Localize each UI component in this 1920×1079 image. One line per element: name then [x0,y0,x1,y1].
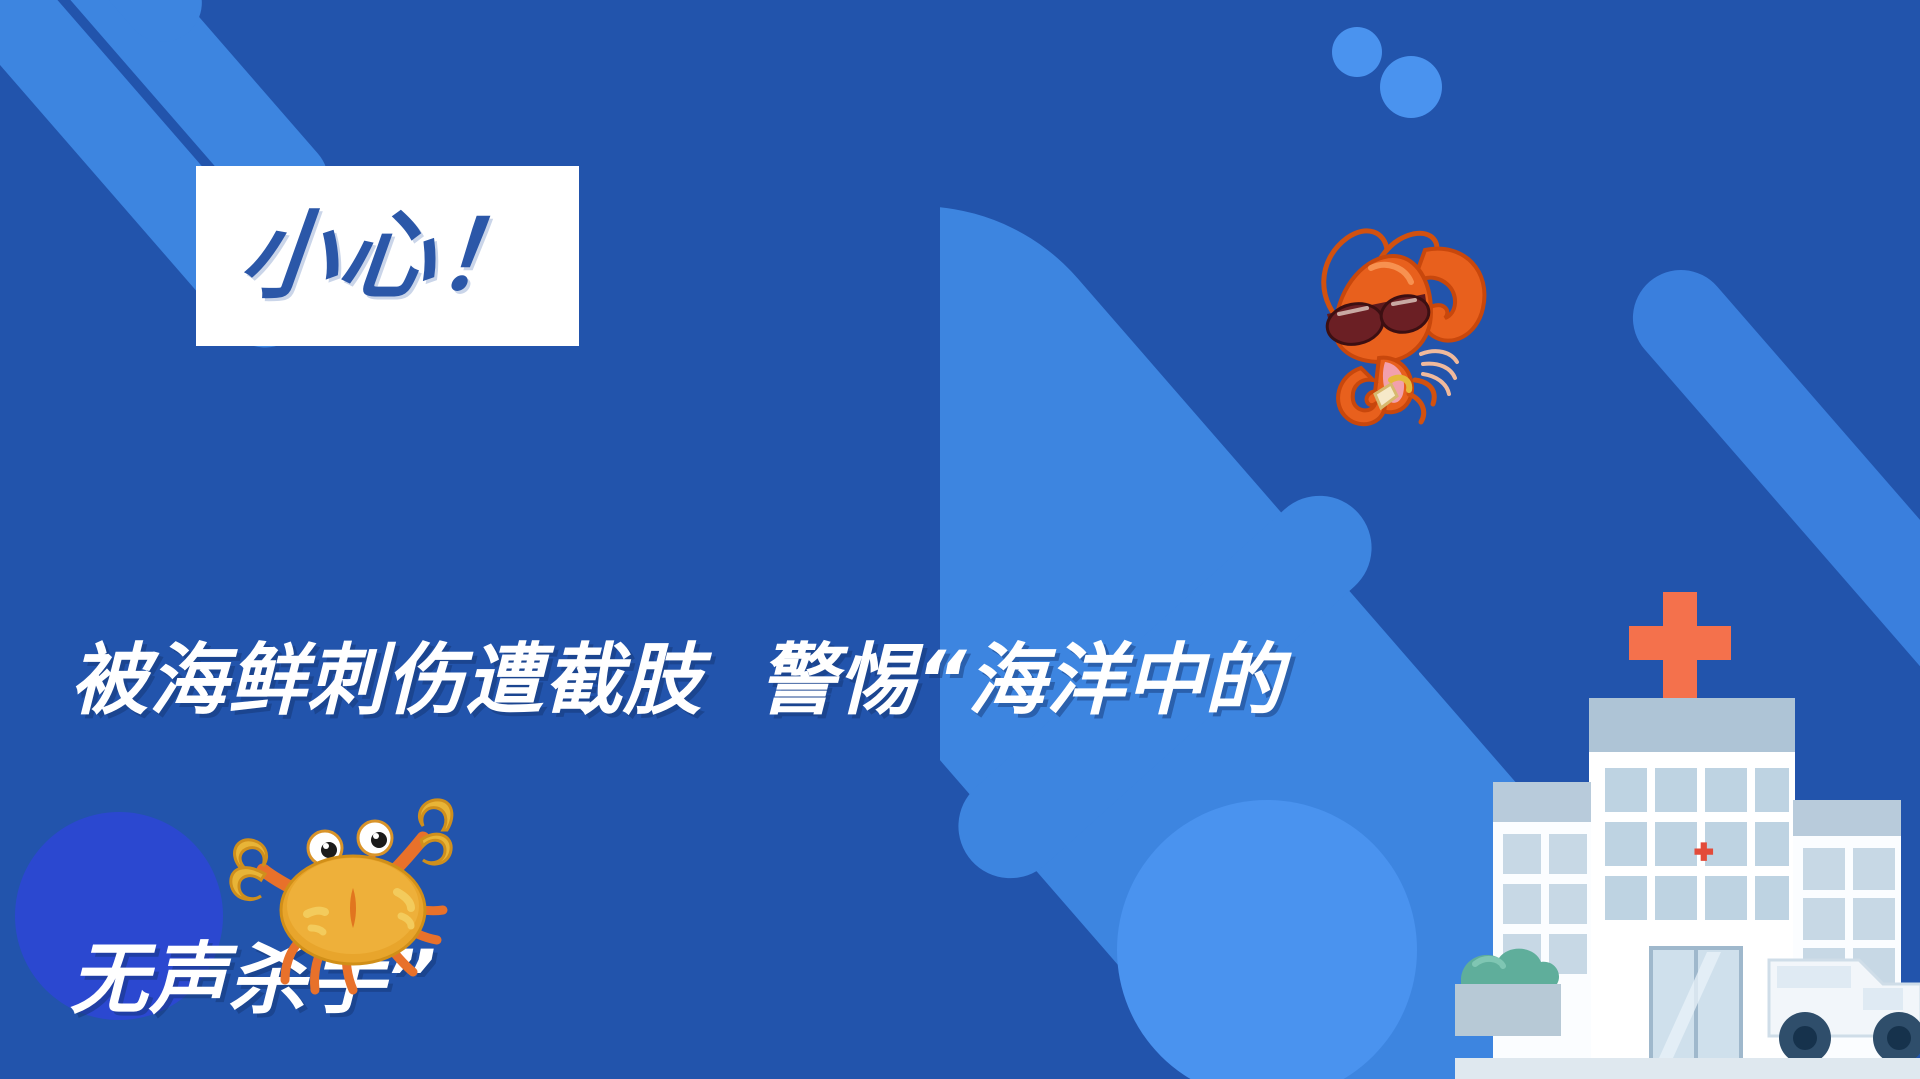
crab-icon [215,770,480,1000]
page-title-line-1: 被海鲜刺伤遭截肢 警惕“海洋中的 [70,632,1410,732]
bubble-large [1380,56,1442,118]
lobster-with-sunglasses-icon [1275,198,1515,438]
warning-badge-text: 小心！ [235,208,539,304]
crab-eye-right [358,821,392,855]
hospital-building-icon [1455,560,1920,1079]
window-grid-center [1605,768,1789,920]
warning-badge-box: 小心！ [196,166,579,346]
poster-canvas: 小心！ 被海鲜刺伤遭截肢 警惕“海洋中的 无声杀手” [0,0,1920,1079]
medical-cross-icon [1629,592,1731,698]
entrance-doors [1651,948,1741,1062]
bubble-small [1332,27,1382,77]
